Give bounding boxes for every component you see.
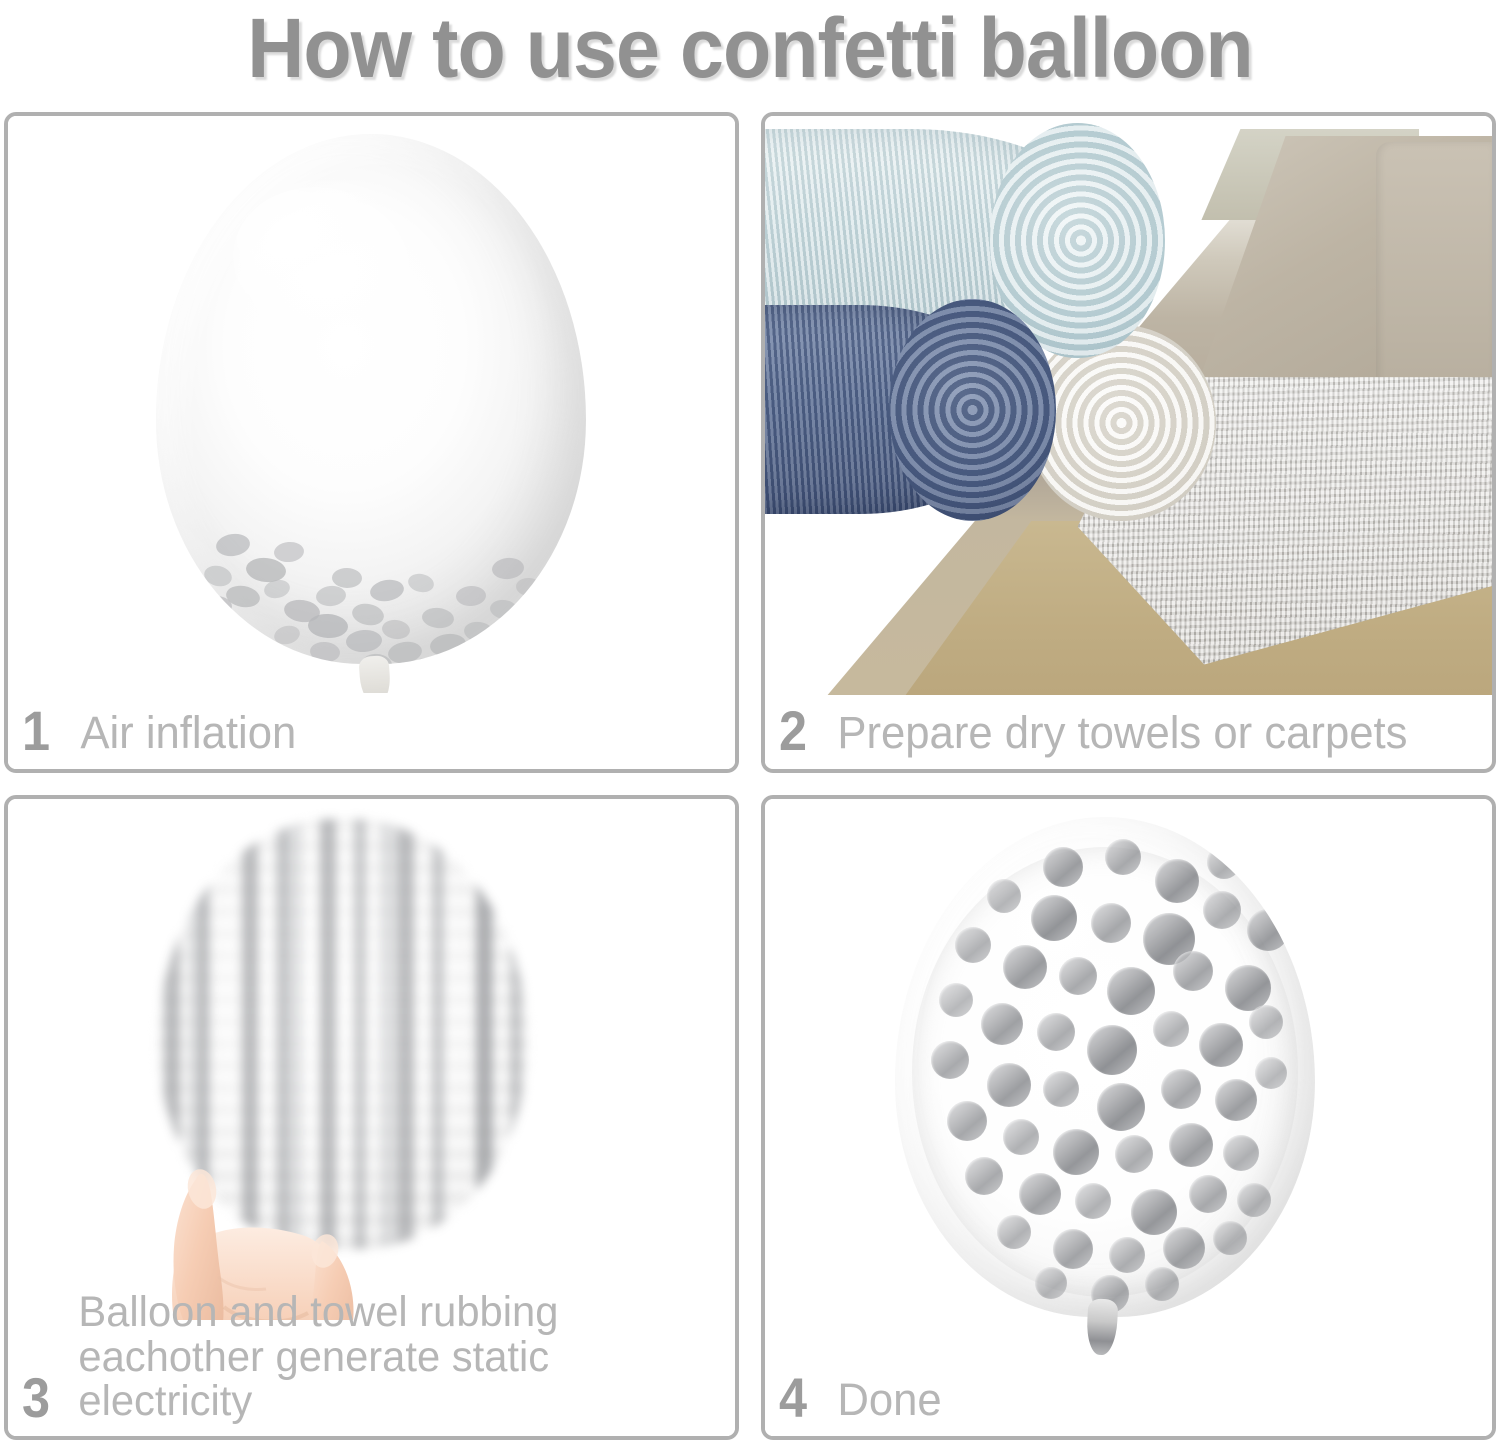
confetti-dot	[1115, 1135, 1153, 1173]
confetti-piece	[332, 567, 363, 588]
step-2-illustration	[765, 116, 1492, 769]
step-panel-1: 1 Air inflation	[4, 112, 739, 773]
confetti-dot	[1215, 1079, 1257, 1121]
confetti-dot	[1043, 847, 1083, 887]
step-number-2: 2	[779, 705, 812, 757]
confetti-dot	[1223, 1135, 1259, 1171]
confetti-dot	[1087, 1025, 1137, 1075]
confetti-dot	[955, 927, 991, 963]
confetti-dot	[1131, 1189, 1177, 1235]
confetti-dot	[965, 1157, 1003, 1195]
step-1-caption: 1 Air inflation	[8, 705, 735, 769]
step-3-caption: 3 Balloon and towel rubbing eachother ge…	[8, 1290, 735, 1436]
confetti-dot	[1247, 909, 1289, 951]
confetti-dot	[1255, 1057, 1287, 1089]
step-2-caption: 2 Prepare dry towels or carpets	[765, 705, 1492, 769]
confetti-dot	[1107, 967, 1155, 1015]
page-title: How to use confetti balloon	[45, 0, 1455, 98]
clear-confetti-group	[895, 817, 1315, 1317]
confetti-dot	[1161, 1069, 1201, 1109]
confetti-dot	[1053, 1229, 1093, 1269]
confetti-dot	[939, 983, 973, 1017]
confetti-dot	[1003, 1119, 1039, 1155]
confetti-dot	[1097, 1083, 1145, 1131]
confetti-dot	[1031, 895, 1077, 941]
step-label-1: Air inflation	[59, 710, 296, 757]
confetti-piece	[421, 606, 455, 629]
confetti-piece	[455, 585, 486, 607]
confetti-piece	[368, 577, 405, 604]
confetti-piece	[345, 629, 382, 653]
step-panel-4: 4 Done	[761, 795, 1496, 1440]
step-1-illustration	[8, 116, 735, 769]
confetti-piece	[315, 584, 347, 607]
confetti-dot	[1155, 859, 1199, 903]
step-panel-3: 3 Balloon and towel rubbing eachother ge…	[4, 795, 739, 1440]
confetti-dot	[1037, 1013, 1075, 1051]
confetti-piece	[215, 532, 252, 559]
confetti-dot	[1207, 845, 1241, 879]
confetti-dot	[1169, 1123, 1213, 1167]
confetti-dot	[1091, 903, 1131, 943]
confetti-dot	[1173, 951, 1213, 991]
navy-towel-roll-end	[889, 299, 1056, 521]
confetti-balloon-icon	[895, 817, 1315, 1317]
step-number-1: 1	[22, 705, 55, 757]
confetti-dot	[947, 1101, 987, 1141]
confetti-piece	[406, 571, 435, 594]
confetti-dot	[1237, 1183, 1271, 1217]
confetti-dot	[981, 1003, 1023, 1045]
confetti-dot	[1249, 1005, 1283, 1039]
confetti-dot	[997, 1215, 1031, 1249]
confetti-piece	[381, 618, 411, 640]
steps-grid: 1 Air inflation 2 Prepare dry towels or …	[4, 112, 1496, 1440]
confetti-dot	[1189, 1175, 1227, 1213]
confetti-dot	[1199, 1023, 1243, 1067]
confetti-piece	[307, 613, 348, 639]
step-panel-2: 2 Prepare dry towels or carpets	[761, 112, 1496, 773]
confetti-piece	[273, 541, 305, 564]
confetti-dot	[1153, 1011, 1189, 1047]
confetti-dot	[1105, 839, 1141, 875]
confetti-dot	[931, 1041, 969, 1079]
step-4-caption: 4 Done	[765, 1372, 1492, 1436]
step-number-3: 3	[22, 1372, 55, 1424]
confetti-dot	[1109, 1237, 1145, 1273]
step-4-illustration	[765, 799, 1492, 1436]
confetti-dot	[987, 1063, 1031, 1107]
confetti-dot	[1003, 945, 1047, 989]
confetti-piece	[350, 601, 385, 628]
confetti-dot	[1053, 1129, 1099, 1175]
confetti-dot	[1213, 1221, 1247, 1255]
step-label-4: Done	[816, 1377, 942, 1424]
confetti-dot	[1145, 1267, 1179, 1301]
confetti-dot	[1203, 891, 1241, 929]
sofa-cushion	[1376, 142, 1492, 416]
confetti-dot	[1075, 1183, 1111, 1219]
confetti-piece	[491, 556, 525, 580]
confetti-dot	[1019, 1173, 1061, 1215]
confetti-dot	[1163, 1227, 1205, 1269]
step-number-4: 4	[779, 1372, 812, 1424]
step-label-3: Balloon and towel rubbing eachother gene…	[59, 1290, 715, 1424]
confetti-dot	[1035, 1267, 1067, 1299]
confetti-dot	[987, 879, 1021, 913]
confetti-dot	[1059, 957, 1097, 995]
step-label-2: Prepare dry towels or carpets	[816, 710, 1407, 757]
confetti-dot	[1043, 1071, 1079, 1107]
